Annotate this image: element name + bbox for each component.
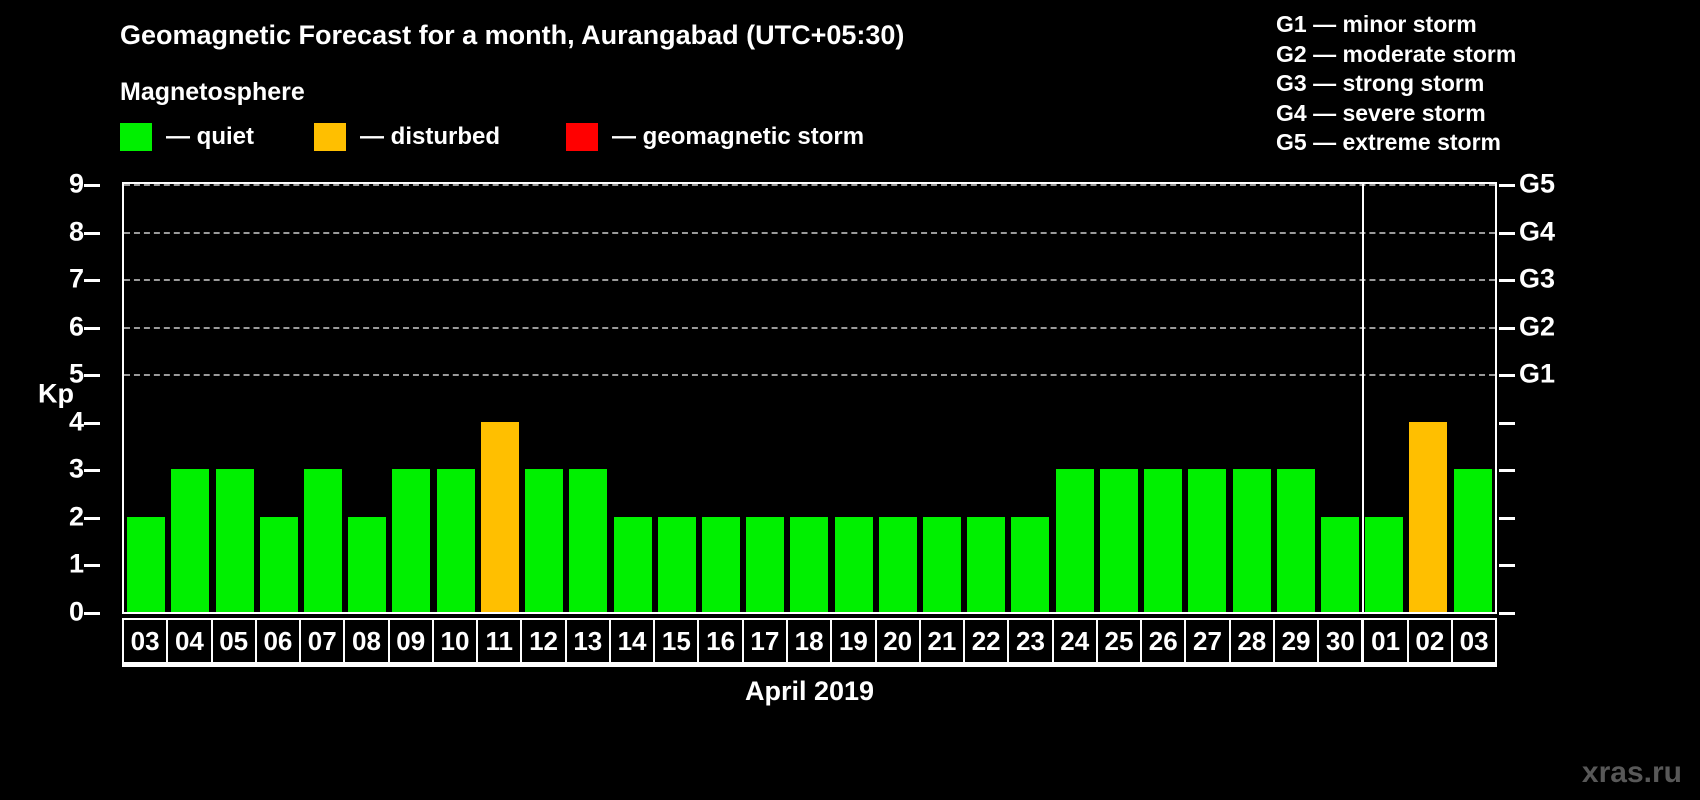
day-label[interactable]: 03 [122,618,166,664]
day-label[interactable]: 16 [697,618,741,664]
bar-cell [212,184,256,612]
g-tick-mark [1499,469,1515,472]
day-label[interactable]: 10 [432,618,476,664]
bar[interactable] [746,517,784,612]
bar[interactable] [702,517,740,612]
bar-cell [1362,184,1406,612]
g-tick-label: G4 [1519,216,1555,247]
y-tick-mark [84,327,100,330]
day-label[interactable]: 30 [1317,618,1361,664]
bar-cell [566,184,610,612]
page-title: Geomagnetic Forecast for a month, Aurang… [120,20,904,51]
bar-cell [743,184,787,612]
g-tick-mark [1499,422,1515,425]
bar[interactable] [1233,469,1271,612]
day-label[interactable]: 05 [211,618,255,664]
day-label[interactable]: 28 [1229,618,1273,664]
bar-cell [345,184,389,612]
y-tick-mark [84,564,100,567]
day-label[interactable]: 26 [1140,618,1184,664]
g-tick-mark [1499,564,1515,567]
gridline [124,327,1495,329]
y-tick-mark [84,517,100,520]
y-tick-mark [84,469,100,472]
y-tick-mark [84,232,100,235]
y-tick-mark [84,184,100,187]
bar-cell [1185,184,1229,612]
legend-swatch-storm [566,123,598,151]
y-tick-label: 4 [69,406,84,437]
bar[interactable] [1409,422,1447,612]
g-tick-mark [1499,279,1515,282]
y-tick-label: 9 [69,169,84,200]
bar-cell [522,184,566,612]
g-tick-mark [1499,232,1515,235]
gridline [124,184,1495,186]
plot-area [122,182,1497,614]
y-tick-label: 5 [69,359,84,390]
bar[interactable] [260,517,298,612]
bar[interactable] [348,517,386,612]
day-label[interactable]: 15 [653,618,697,664]
legend-swatch-disturbed [314,123,346,151]
bar[interactable] [1144,469,1182,612]
bar-cell [124,184,168,612]
legend-label-storm: — geomagnetic storm [612,123,864,151]
bar-cell [1097,184,1141,612]
day-label[interactable]: 09 [388,618,432,664]
gridline [124,279,1495,281]
bar-cell [1053,184,1097,612]
day-label[interactable]: 25 [1096,618,1140,664]
y-tick-label: 1 [69,549,84,580]
bar-cell [832,184,876,612]
bar-cell [434,184,478,612]
bar-cell [964,184,1008,612]
bar[interactable] [1011,517,1049,612]
y-axis: Kp 0123456789 [0,0,122,800]
bar-cell [257,184,301,612]
g-tick-mark [1499,184,1515,187]
bar[interactable] [835,517,873,612]
bar-cell [655,184,699,612]
x-axis-day-labels: 0304050607080910111213141516171819202122… [122,618,1497,667]
day-label[interactable]: 14 [609,618,653,664]
bar[interactable] [923,517,961,612]
g-tick-label: G1 [1519,359,1555,390]
day-label[interactable]: 03 [1451,618,1497,664]
y-tick-mark [84,422,100,425]
day-label[interactable]: 18 [786,618,830,664]
bar-cell [478,184,522,612]
day-label[interactable]: 02 [1407,618,1451,664]
day-label[interactable]: 19 [830,618,874,664]
legend-item-disturbed: — disturbed [314,123,500,151]
bar-cell [699,184,743,612]
g-tick-label: G2 [1519,311,1555,342]
bar-cell [1451,184,1495,612]
y-tick-label: 7 [69,264,84,295]
y-tick-mark [84,279,100,282]
month-divider [1362,184,1364,612]
bar[interactable] [614,517,652,612]
magnetosphere-legend: — quiet — disturbed — geomagnetic storm [120,123,864,151]
watermark: xras.ru [1582,756,1682,790]
day-label[interactable]: 06 [255,618,299,664]
bar-cell [301,184,345,612]
bar[interactable] [879,517,917,612]
bar[interactable] [1100,469,1138,612]
bar[interactable] [216,469,254,612]
magnetosphere-heading: Magnetosphere [120,78,305,107]
y-tick-label: 3 [69,454,84,485]
gridline [124,374,1495,376]
bar-cell [1229,184,1273,612]
day-label[interactable]: 17 [742,618,786,664]
g-axis: G1G2G3G4G5 [1497,0,1697,800]
bar-cell [389,184,433,612]
y-tick-mark [84,374,100,377]
day-label[interactable]: 07 [299,618,343,664]
g-tick-label: G3 [1519,264,1555,295]
bar-cell [1318,184,1362,612]
bar[interactable] [790,517,828,612]
bar-cell [787,184,831,612]
day-label[interactable]: 13 [565,618,609,664]
bar-cell [1406,184,1450,612]
g-tick-mark [1499,327,1515,330]
bar[interactable] [569,469,607,612]
y-tick-label: 8 [69,216,84,247]
bar[interactable] [1321,517,1359,612]
g-tick-mark [1499,517,1515,520]
bar-series [124,184,1495,612]
y-tick-label: 6 [69,311,84,342]
bar-cell [1008,184,1052,612]
day-label[interactable]: 23 [1007,618,1051,664]
legend-swatch-quiet [120,123,152,151]
bar[interactable] [481,422,519,612]
bar-cell [920,184,964,612]
bar-cell [876,184,920,612]
bar[interactable] [1056,469,1094,612]
day-label[interactable]: 21 [919,618,963,664]
bar[interactable] [1277,469,1315,612]
y-tick-label: 2 [69,501,84,532]
bar[interactable] [525,469,563,612]
legend-label-quiet: — quiet [166,123,254,151]
bar[interactable] [437,469,475,612]
bar-cell [1274,184,1318,612]
bar[interactable] [392,469,430,612]
day-label[interactable]: 27 [1184,618,1228,664]
day-label[interactable]: 24 [1052,618,1096,664]
bar-cell [168,184,212,612]
day-label[interactable]: 04 [166,618,210,664]
g-tick-label: G5 [1519,169,1555,200]
bar[interactable] [127,517,165,612]
bar[interactable] [1454,469,1492,612]
legend-item-quiet: — quiet [120,123,254,151]
x-axis-title: April 2019 [122,676,1497,707]
legend-item-storm: — geomagnetic storm [566,123,864,151]
bar[interactable] [658,517,696,612]
bar-cell [610,184,654,612]
day-label[interactable]: 11 [476,618,520,664]
y-tick-label: 0 [69,597,84,628]
bar-cell [1141,184,1185,612]
g-tick-mark [1499,374,1515,377]
bar[interactable] [1365,517,1403,612]
day-label[interactable]: 22 [963,618,1007,664]
day-label[interactable]: 29 [1273,618,1317,664]
y-tick-mark [84,612,100,615]
day-label[interactable]: 01 [1361,618,1406,664]
bar[interactable] [967,517,1005,612]
day-label[interactable]: 12 [520,618,564,664]
bar[interactable] [304,469,342,612]
bar[interactable] [1188,469,1226,612]
gridline [124,232,1495,234]
bar[interactable] [171,469,209,612]
legend-label-disturbed: — disturbed [360,123,500,151]
day-label[interactable]: 08 [343,618,387,664]
day-label[interactable]: 20 [875,618,919,664]
g-tick-mark [1499,612,1515,615]
